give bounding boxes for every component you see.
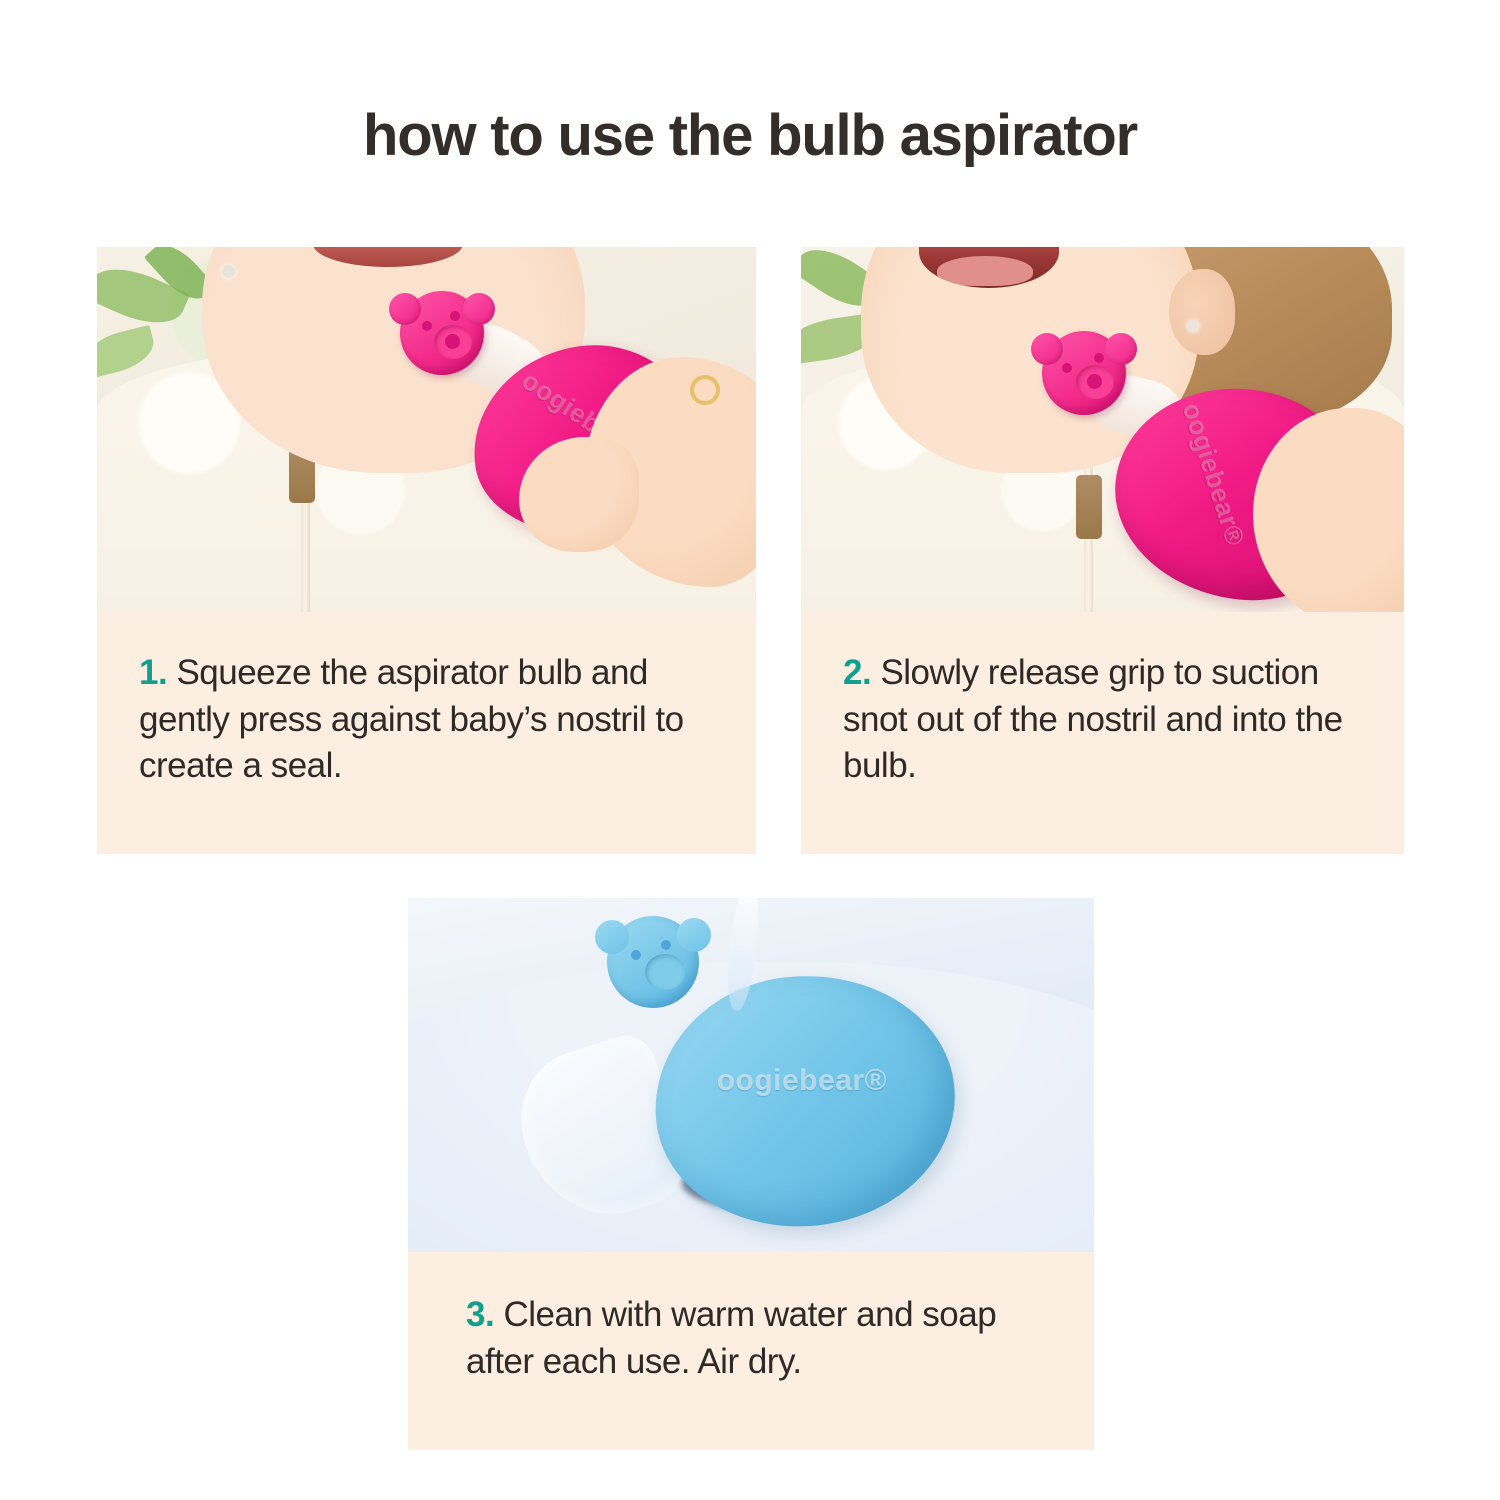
step-1-photo: oogiebear®	[97, 247, 756, 612]
step-1-text: Squeeze the aspirator bulb and gently pr…	[139, 653, 684, 785]
step-card-1: oogiebear® 1. Squeeze the aspirator bulb…	[97, 247, 756, 854]
baby-tongue	[937, 256, 1033, 286]
baby-ear	[1169, 269, 1235, 355]
step-2-text: Slowly release grip to suction snot out …	[843, 653, 1343, 785]
bear-tip-icon	[400, 291, 484, 375]
step-3-text: Clean with warm water and soap after eac…	[466, 1295, 996, 1381]
step-1-number: 1.	[139, 653, 167, 692]
bear-eye	[1062, 363, 1072, 373]
bear-eye	[450, 311, 460, 321]
bear-snout	[1076, 365, 1114, 399]
bear-eye	[631, 950, 641, 960]
earring	[1187, 320, 1199, 332]
step-3-number: 3.	[466, 1295, 494, 1334]
zipper-pull	[1076, 475, 1102, 539]
step-2-number: 2.	[843, 653, 871, 692]
step-2-photo: oogiebear®	[801, 247, 1404, 612]
bear-tip-icon	[607, 916, 699, 1008]
bear-snout	[434, 325, 472, 359]
step-1-caption: 1. Squeeze the aspirator bulb and gently…	[97, 612, 756, 816]
bear-snout	[645, 954, 685, 990]
baby-mouth	[919, 247, 1059, 288]
step-3-caption: 3. Clean with warm water and soap after …	[408, 1252, 1094, 1411]
baby-lips	[313, 247, 463, 267]
bear-tip-icon	[1042, 331, 1126, 415]
step-card-3: oogiebear® 3. Clean with warm water and …	[408, 898, 1094, 1450]
step-3-photo: oogiebear®	[408, 898, 1094, 1252]
bear-eye	[422, 321, 432, 331]
step-2-caption: 2. Slowly release grip to suction snot o…	[801, 612, 1404, 816]
step-card-2: oogiebear® 2. Slowly release grip to suc…	[801, 247, 1404, 854]
bear-eye	[661, 940, 671, 950]
infographic-page: how to use the bulb aspirator oogiebear®	[0, 0, 1500, 1500]
brand-logo: oogiebear®	[717, 1064, 887, 1098]
page-title: how to use the bulb aspirator	[0, 104, 1500, 168]
bear-eye	[1094, 353, 1104, 363]
